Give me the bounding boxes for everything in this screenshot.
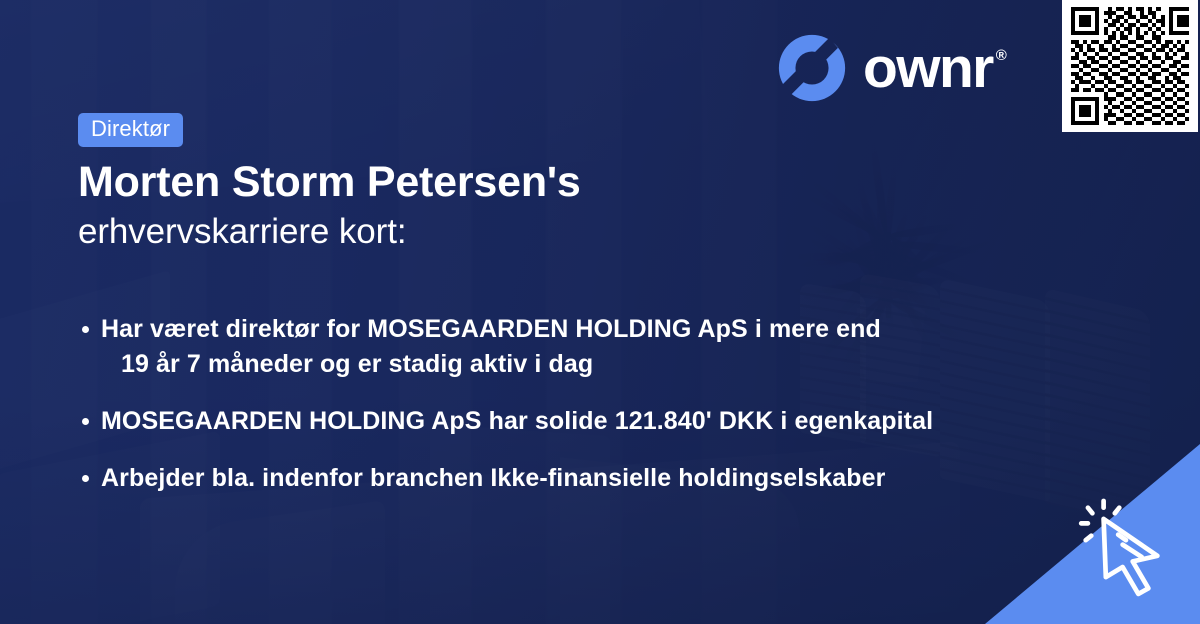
fact-list: Har været direktør for MOSEGAARDEN HOLDI…: [82, 312, 1062, 518]
career-card: Direktør Morten Storm Petersen's erhverv…: [0, 0, 1200, 624]
fact-line-1: MOSEGAARDEN HOLDING ApS har solide 121.8…: [101, 407, 933, 435]
bullet-dot-icon: [82, 475, 89, 482]
fact-line-1: Arbejder bla. indenfor branchen Ikke-fin…: [101, 464, 885, 492]
ownr-circle-swoosh-icon: [776, 32, 848, 104]
list-item: Har været direktør for MOSEGAARDEN HOLDI…: [82, 312, 1062, 382]
page-title: Morten Storm Petersen's erhvervskarriere…: [78, 156, 1078, 256]
fact-text: MOSEGAARDEN HOLDING ApS har solide 121.8…: [101, 404, 933, 439]
headline-line-1: Morten Storm Petersen's: [78, 156, 1078, 208]
headline-line-2: erhvervskarriere kort:: [78, 208, 1078, 256]
bullet-dot-icon: [82, 326, 89, 333]
bullet-dot-icon: [82, 418, 89, 425]
qr-code-grid: [1071, 7, 1189, 125]
fact-line-2: 19 år 7 måneder og er stadig aktiv i dag: [101, 347, 881, 382]
fact-line-1: Har været direktør for MOSEGAARDEN HOLDI…: [101, 315, 881, 343]
list-item: Arbejder bla. indenfor branchen Ikke-fin…: [82, 461, 1062, 496]
fact-text: Har været direktør for MOSEGAARDEN HOLDI…: [101, 312, 881, 382]
list-item: MOSEGAARDEN HOLDING ApS har solide 121.8…: [82, 404, 1062, 439]
ownr-logo: ownr ®: [776, 32, 1007, 104]
fact-text: Arbejder bla. indenfor branchen Ikke-fin…: [101, 461, 885, 496]
ownr-wordmark: ownr: [863, 40, 993, 97]
qr-code-icon[interactable]: [1062, 0, 1198, 132]
registered-trademark-icon: ®: [996, 48, 1007, 63]
role-badge: Direktør: [78, 113, 183, 147]
